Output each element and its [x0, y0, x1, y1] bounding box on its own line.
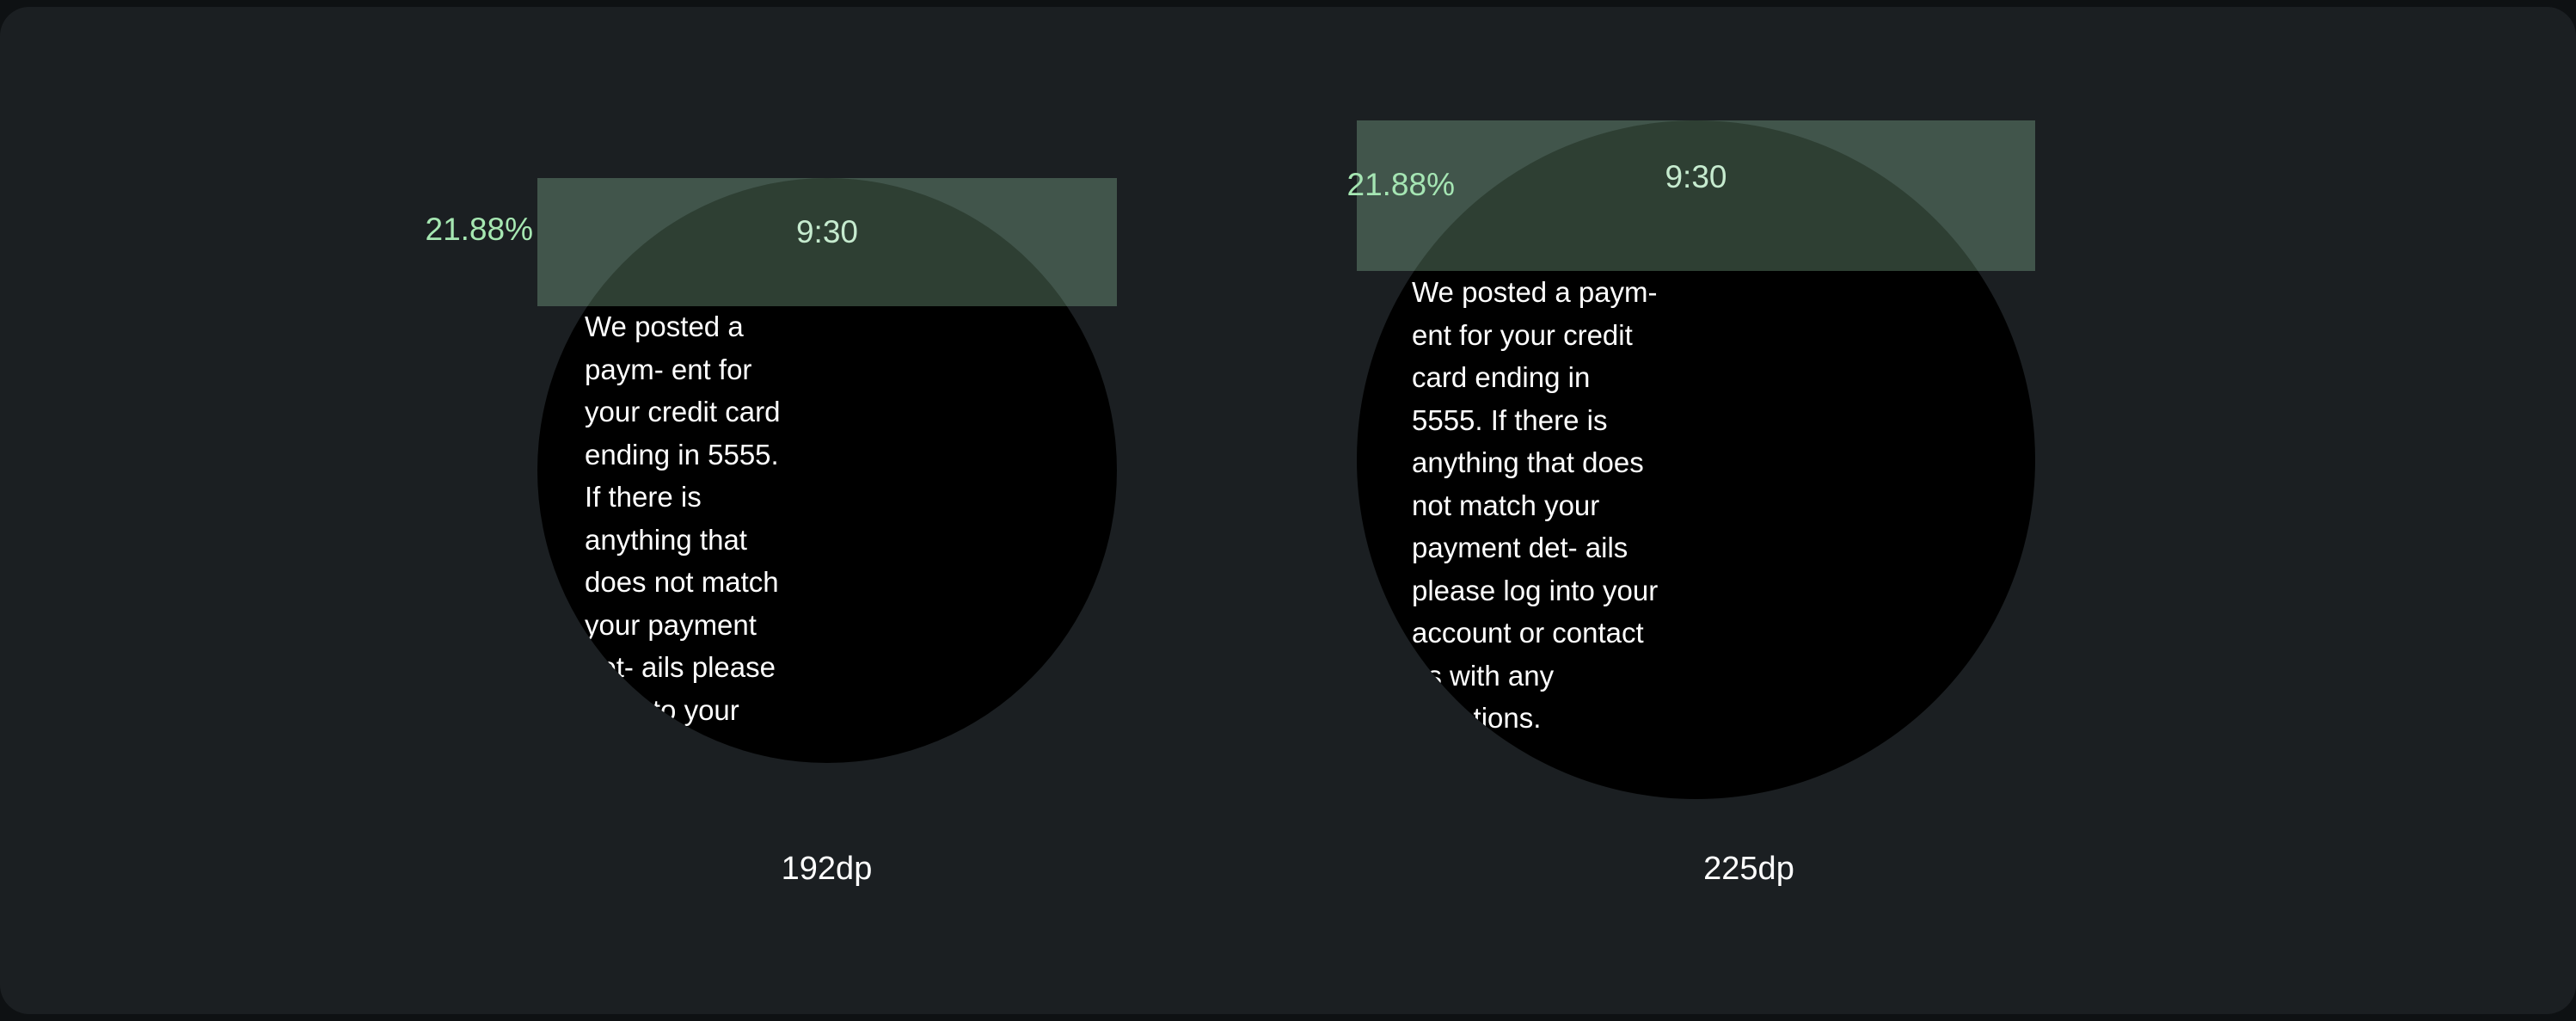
screenshot-stage: 21.88% We posted a paym- ent for your cr…	[0, 0, 2576, 1021]
percent-label-225dp: 21.88%	[1145, 167, 1455, 203]
watch-screen-225dp[interactable]: We posted a paym- ent for your credit ca…	[1357, 120, 2035, 799]
size-caption-225dp: 225dp	[922, 851, 2576, 888]
specimen-225dp: 21.88% We posted a paym- ent for your cr…	[922, 7, 2576, 1014]
specimen-list: 21.88% We posted a paym- ent for your cr…	[0, 7, 2576, 1014]
percent-label-192dp: 21.88%	[224, 212, 533, 248]
notification-body-192dp: We posted a paym- ent for your credit ca…	[585, 305, 801, 763]
notification-body-225dp: We posted a paym- ent for your credit ca…	[1412, 271, 1666, 740]
comparison-canvas: 21.88% We posted a paym- ent for your cr…	[0, 7, 2576, 1014]
